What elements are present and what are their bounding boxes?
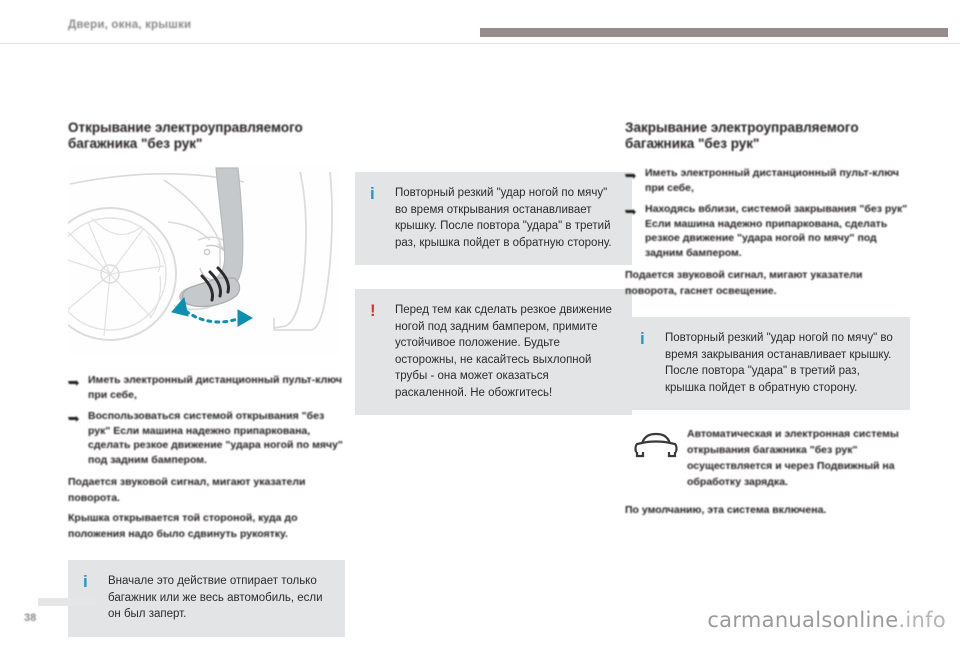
list-item-label: Иметь электронный дистанционный пульт-кл…: [88, 374, 342, 401]
left-info-callout-text: Вначале это действие отпирает только баг…: [108, 573, 331, 623]
list-item: Находясь вблизи, системой закрывания "бе…: [625, 202, 910, 260]
middle-info-callout-text: Повторный резкий "удар ногой по мячу" во…: [395, 185, 618, 251]
right-paragraph-1: Подается звуковой сигнал, мигают указате…: [625, 267, 910, 299]
info-icon: i: [640, 330, 645, 347]
list-item-label: Иметь электронный дистанционный пульт-кл…: [645, 167, 899, 194]
watermark-name: carmanualsonline: [707, 608, 898, 632]
list-item-label: Воспользоваться системой открывания "без…: [88, 410, 343, 466]
arrow-bullet-icon: [68, 413, 79, 420]
right-closing-note: По умолчанию, эта система включена.: [625, 502, 910, 518]
info-icon: i: [83, 573, 88, 590]
middle-column: i Повторный резкий "удар ногой по мячу" …: [355, 172, 632, 431]
watermark-tld: .info: [898, 608, 946, 632]
list-item: Воспользоваться системой открывания "без…: [68, 409, 345, 467]
foot-kick-illustration: [68, 166, 340, 355]
arrow-bullet-icon: [625, 206, 636, 213]
left-section-title: Открывание электроуправляемого багажника…: [68, 120, 345, 152]
list-item-label: Находясь вблизи, системой закрывания "бе…: [645, 203, 907, 259]
watermark: carmanualsonline.info: [707, 608, 946, 632]
arrow-bullet-icon: [68, 377, 79, 384]
header-title: Двери, окна, крышки: [68, 19, 191, 31]
right-car-note-text: Автоматическая и электронная системы отк…: [687, 426, 910, 490]
page-number: 38: [24, 612, 36, 624]
right-info-callout: i Повторный резкий "удар ногой по мячу" …: [625, 317, 910, 410]
left-paragraph-1: Подается звуковой сигнал, мигают указате…: [68, 474, 345, 506]
arrow-bullet-icon: [625, 170, 636, 177]
header-divider: [0, 43, 960, 44]
right-column: Закрывание электроуправляемого багажника…: [625, 120, 910, 518]
car-front-icon: [633, 430, 679, 460]
footer-tab-marker: [38, 598, 96, 606]
left-paragraph-2: Крышка открывается той стороной, куда до…: [68, 510, 345, 542]
info-icon: i: [370, 185, 375, 202]
right-info-callout-text: Повторный резкий "удар ногой по мячу" во…: [665, 330, 896, 396]
middle-warning-callout-text: Перед тем как сделать резкое движение но…: [395, 302, 618, 401]
left-column: Открывание электроуправляемого багажника…: [68, 120, 345, 653]
middle-info-callout: i Повторный резкий "удар ногой по мячу" …: [355, 172, 632, 265]
left-bullet-list: Иметь электронный дистанционный пульт-кл…: [68, 373, 345, 467]
page-header: Двери, окна, крышки: [0, 0, 960, 44]
right-bullet-list: Иметь электронный дистанционный пульт-кл…: [625, 166, 910, 260]
right-section-title: Закрывание электроуправляемого багажника…: [625, 120, 910, 152]
list-item: Иметь электронный дистанционный пульт-кл…: [68, 373, 345, 402]
left-info-callout: i Вначале это действие отпирает только б…: [68, 560, 345, 637]
warning-icon: !: [370, 302, 376, 319]
list-item: Иметь электронный дистанционный пульт-кл…: [625, 166, 910, 195]
right-car-note: Автоматическая и электронная системы отк…: [625, 426, 910, 490]
middle-warning-callout: ! Перед тем как сделать резкое движение …: [355, 289, 632, 415]
header-accent-bar: [480, 28, 948, 37]
